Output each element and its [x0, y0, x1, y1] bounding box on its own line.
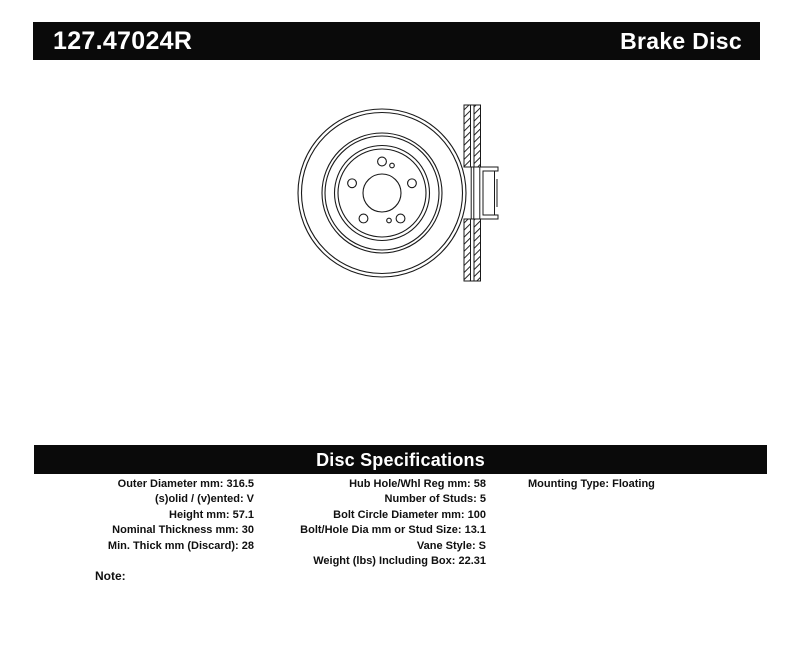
note-row: Note: [95, 570, 126, 582]
brake-rotor-face-view [292, 103, 472, 283]
spec-min-thickness-discard: Min. Thick mm (Discard): 28 [34, 539, 254, 554]
spec-column-left: Outer Diameter mm: 316.5 (s)olid / (v)en… [34, 477, 260, 554]
spec-height: Height mm: 57.1 [34, 508, 254, 523]
disc-specifications-bar: Disc Specifications [34, 445, 767, 474]
spec-weight-including-box: Weight (lbs) Including Box: 22.31 [260, 554, 486, 569]
spec-number-of-studs: Number of Studs: 5 [260, 492, 486, 507]
brake-rotor-edge-section-view [452, 93, 508, 293]
disc-specifications-title: Disc Specifications [316, 451, 485, 469]
spec-solid-vented: (s)olid / (v)ented: V [34, 492, 254, 507]
spec-column-right: Mounting Type: Floating [492, 477, 767, 492]
title-bar: 127.47024R Brake Disc [33, 22, 760, 60]
spec-mounting-type: Mounting Type: Floating [528, 477, 767, 492]
spec-hub-hole: Hub Hole/Whl Reg mm: 58 [260, 477, 486, 492]
specifications-table: Outer Diameter mm: 316.5 (s)olid / (v)en… [34, 477, 767, 569]
spec-column-middle: Hub Hole/Whl Reg mm: 58 Number of Studs:… [260, 477, 492, 569]
spec-bolt-hole-dia: Bolt/Hole Dia mm or Stud Size: 13.1 [260, 523, 486, 538]
spec-bolt-circle-diameter: Bolt Circle Diameter mm: 100 [260, 508, 486, 523]
product-drawing [0, 75, 800, 435]
note-label: Note: [95, 569, 126, 583]
spec-nominal-thickness: Nominal Thickness mm: 30 [34, 523, 254, 538]
spec-outer-diameter: Outer Diameter mm: 316.5 [34, 477, 254, 492]
part-number: 127.47024R [53, 29, 192, 54]
product-type-label: Brake Disc [620, 30, 742, 53]
spec-vane-style: Vane Style: S [260, 539, 486, 554]
